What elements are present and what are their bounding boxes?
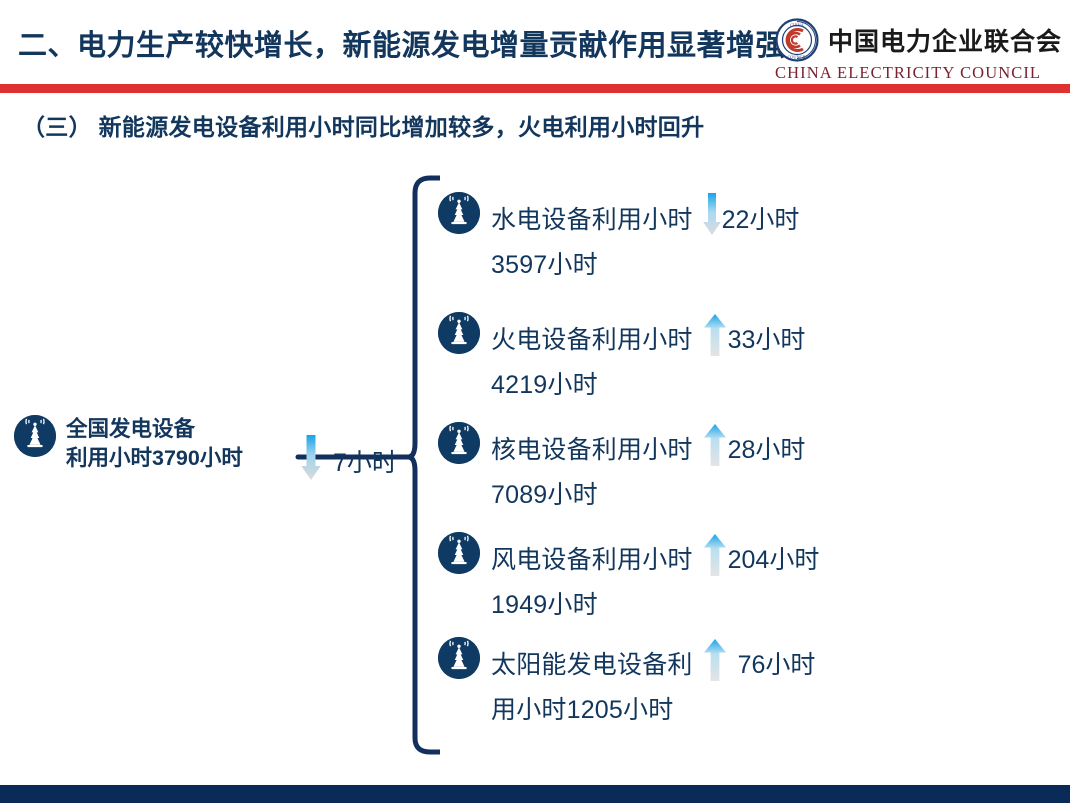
branch-delta-value: 33小时	[728, 320, 806, 356]
branch-item-hydro[interactable]: 水电设备利用小时	[438, 192, 799, 281]
branch-delta-value: 204小时	[728, 540, 820, 576]
branch-delta: 76小时	[702, 637, 816, 688]
arrow-down-icon	[300, 433, 322, 488]
footer-bar	[0, 785, 1070, 803]
logo-chinese-name: 中国电力企业联合会	[828, 22, 1062, 58]
branch-delta-value: 28小时	[728, 430, 806, 466]
branch-line-2: 用小时1205小时	[491, 690, 815, 726]
branch-item-nuclear[interactable]: 核电设备利用小时	[438, 422, 805, 511]
branch-line-2: 7089小时	[491, 475, 805, 511]
branch-line-1: 水电设备利用小时	[491, 192, 799, 243]
root-delta: 7小时	[300, 433, 397, 488]
root-delta-value: 7小时	[333, 443, 397, 479]
branch-delta-value: 76小时	[738, 645, 816, 681]
branch-line-1: 核电设备利用小时	[491, 422, 805, 473]
power-tower-icon	[438, 637, 480, 679]
branch-delta: 33小时	[702, 312, 806, 363]
branch-item-thermal[interactable]: 火电设备利用小时	[438, 312, 805, 401]
branch-delta: 28小时	[702, 422, 806, 473]
arrow-down-icon	[702, 192, 722, 243]
diagram-area: 全国发电设备 利用小时3790小时 7小时	[0, 150, 1070, 760]
header-accent-bar	[0, 84, 1070, 93]
root-label-line1: 全国发电设备	[66, 415, 243, 444]
power-tower-icon	[438, 422, 480, 464]
power-tower-icon	[14, 415, 56, 457]
branch-body: 火电设备利用小时	[491, 312, 805, 401]
power-tower-icon	[438, 312, 480, 354]
slide-header: 二、电力生产较快增长，新能源发电增量贡献作用显著增强 CHINA COUNCIL	[0, 0, 1070, 84]
ccc-emblem-icon: CHINA COUNCIL	[775, 18, 819, 62]
root-node[interactable]: 全国发电设备 利用小时3790小时	[14, 415, 243, 472]
branch-label: 太阳能发电设备利	[491, 645, 693, 681]
root-label: 全国发电设备 利用小时3790小时	[66, 415, 243, 472]
branch-label: 火电设备利用小时	[491, 320, 693, 356]
logo-row: CHINA COUNCIL 中国电力企业联合会	[775, 18, 1062, 62]
svg-text:COUNCIL: COUNCIL	[787, 55, 806, 60]
branch-label: 风电设备利用小时	[491, 540, 693, 576]
slide: 二、电力生产较快增长，新能源发电增量贡献作用显著增强 CHINA COUNCIL	[0, 0, 1070, 803]
branch-line-2: 3597小时	[491, 245, 799, 281]
branch-item-solar[interactable]: 太阳能发电设备利	[438, 637, 815, 726]
branch-item-wind[interactable]: 风电设备利用小时	[438, 532, 819, 621]
branch-line-1: 火电设备利用小时	[491, 312, 805, 363]
logo-english-name: CHINA ELECTRICITY COUNCIL	[775, 63, 1041, 83]
branch-delta: 204小时	[702, 532, 820, 583]
branch-label: 水电设备利用小时	[491, 200, 693, 236]
svg-text:CHINA: CHINA	[790, 23, 805, 28]
arrow-up-icon	[702, 422, 728, 473]
branch-label: 核电设备利用小时	[491, 430, 693, 466]
branch-delta-value: 22小时	[722, 200, 800, 236]
branch-body: 风电设备利用小时	[491, 532, 819, 621]
page-title: 二、电力生产较快增长，新能源发电增量贡献作用显著增强	[18, 22, 785, 64]
power-tower-icon	[438, 532, 480, 574]
branch-line-1: 风电设备利用小时	[491, 532, 819, 583]
branch-body: 太阳能发电设备利	[491, 637, 815, 726]
branch-body: 核电设备利用小时	[491, 422, 805, 511]
branch-delta: 22小时	[702, 192, 800, 243]
organization-logo: CHINA COUNCIL 中国电力企业联合会 CHINA ELECTRICIT…	[775, 18, 1062, 83]
branch-line-2: 1949小时	[491, 585, 819, 621]
branch-line-1: 太阳能发电设备利	[491, 637, 815, 688]
section-subtitle: （三） 新能源发电设备利用小时同比增加较多，火电利用小时回升	[22, 108, 704, 142]
arrow-up-icon	[702, 637, 728, 688]
branch-body: 水电设备利用小时	[491, 192, 799, 281]
branch-line-2: 4219小时	[491, 365, 805, 401]
arrow-up-icon	[702, 532, 728, 583]
power-tower-icon	[438, 192, 480, 234]
arrow-up-icon	[702, 312, 728, 363]
root-label-line2: 利用小时3790小时	[66, 444, 243, 473]
